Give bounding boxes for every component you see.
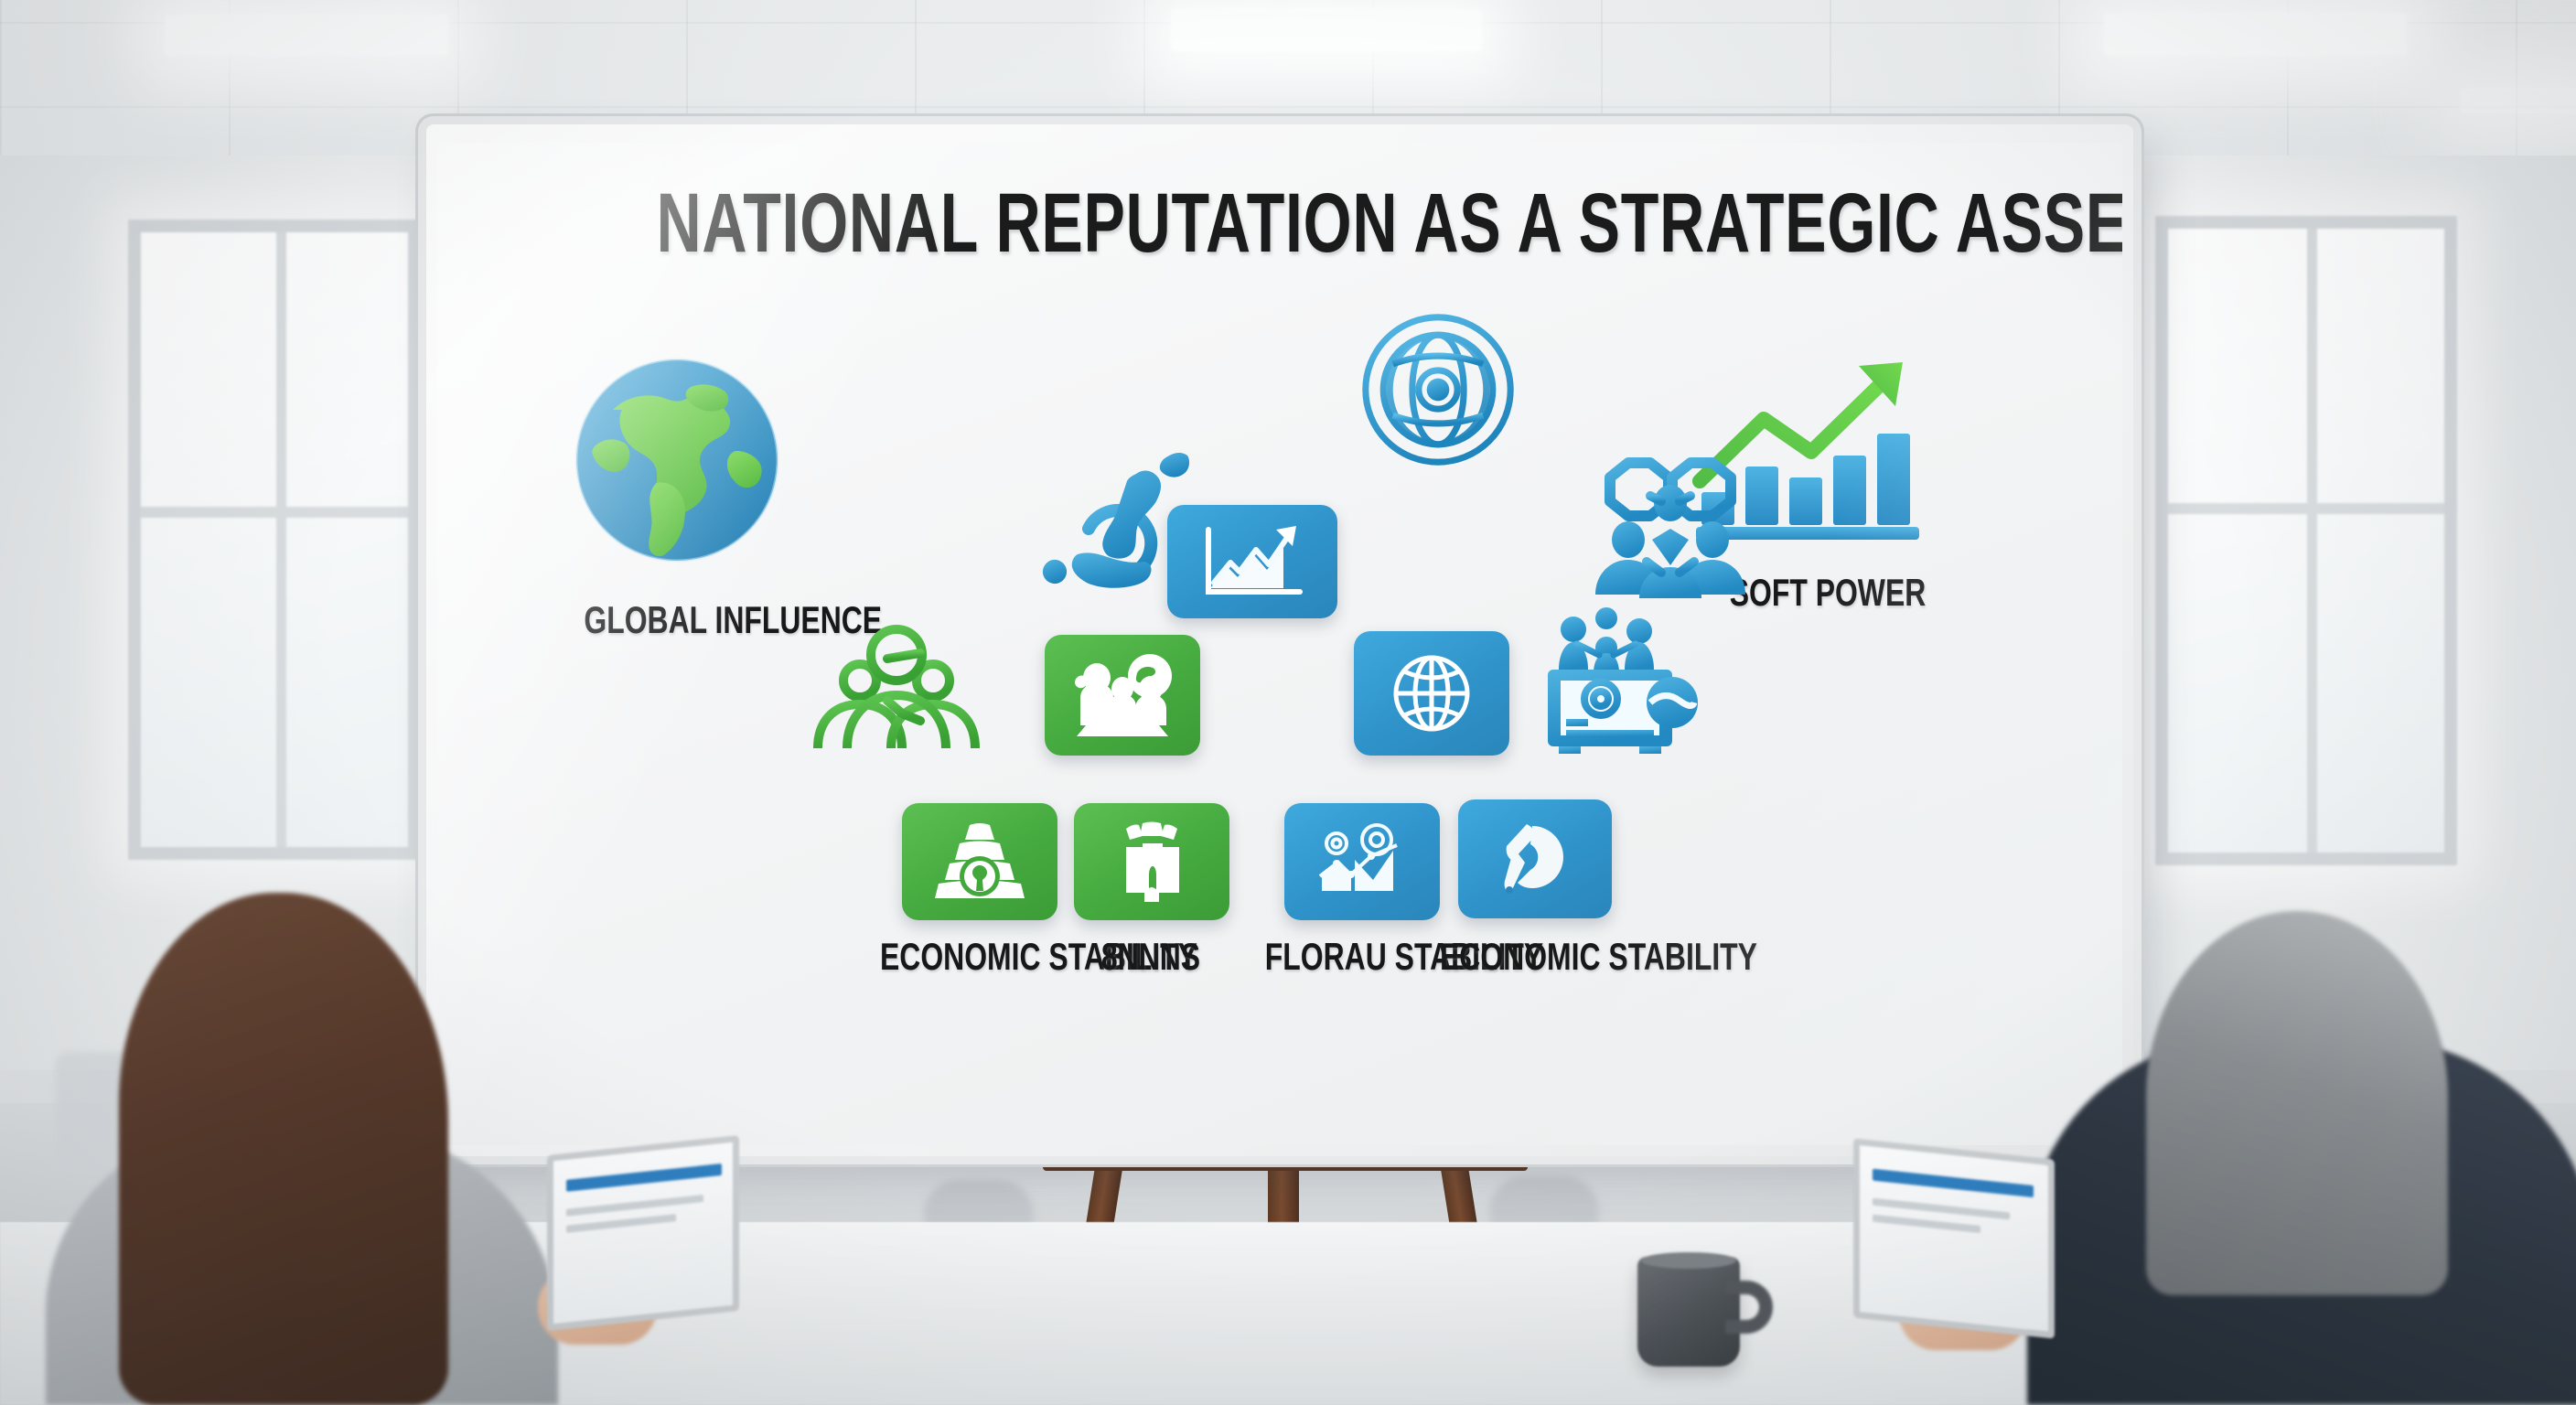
analytics-mountain-icon [1309,820,1415,904]
tile-monument-arch[interactable] [1074,803,1229,920]
presentation-board[interactable]: NATIONAL REPUTATION AS A STRATEGIC ASSET [426,124,2133,1156]
label-soft-power: SOFT POWER [1723,571,1932,615]
label-economic-stability-1: ECONOMIC STABILITY [880,935,1089,979]
coffee-mug[interactable] [1637,1257,1740,1367]
laptop-left-accent-bar [566,1164,722,1192]
earth-globe-icon [563,346,791,574]
team-people-icon [807,618,986,748]
people-globe-icon [1066,652,1179,738]
tile-abstract-swoosh[interactable] [1458,799,1612,918]
ceiling-light-4 [2461,88,2576,113]
wireframe-globe-ring-icon [1358,309,1519,470]
man-hair [2146,911,2448,1295]
ceiling-light-1 [165,15,448,55]
laptop-right-accent-bar [1873,1169,2034,1197]
wireframe-globe-icon [1384,646,1479,741]
tile-line-chart-arrow[interactable] [1167,505,1337,618]
tile-wireframe-globe[interactable] [1354,631,1509,756]
presentation-people-icon [1540,615,1714,752]
tile-analytics-mountain[interactable] [1284,803,1440,920]
laptop-right-line-2 [1873,1215,1980,1233]
laptop-right-screen [1853,1138,2055,1338]
abstract-swoosh-icon [1487,817,1583,901]
person-woman [27,765,613,1405]
laptop-left-line-1 [566,1195,703,1217]
tile-people-globe[interactable] [1045,635,1200,756]
tile-coin-stack-lock[interactable] [902,803,1057,920]
laptop-right[interactable] [1853,1149,2064,1368]
ceiling-light-3 [2104,13,2406,55]
coin-stack-lock-icon [927,820,1033,904]
monument-arch-icon [1099,820,1205,904]
board-glare [437,143,2122,1145]
label-8nnns: 8NNNS [1081,935,1220,979]
laptop-left-screen [547,1135,739,1331]
board-surface: NATIONAL REPUTATION AS A STRATEGIC ASSET [437,143,2122,1145]
network-people-icon [1588,452,1753,598]
line-chart-arrow-icon [1197,522,1307,601]
woman-hair [119,893,448,1405]
laptop-left-line-2 [566,1214,676,1233]
page-title: NATIONAL REPUTATION AS A STRATEGIC ASSET [656,176,1903,272]
label-economic-stability-2: ECONOMIC STABILITY [1440,935,1648,979]
conference-room-scene: NATIONAL REPUTATION AS A STRATEGIC ASSET [0,0,2576,1405]
label-florau-stability: FLORAU STABILITY [1265,935,1466,979]
laptop-left[interactable] [547,1145,748,1365]
ceiling-light-2 [1171,9,1482,51]
window-left [128,220,421,860]
mug-rim [1641,1252,1736,1269]
